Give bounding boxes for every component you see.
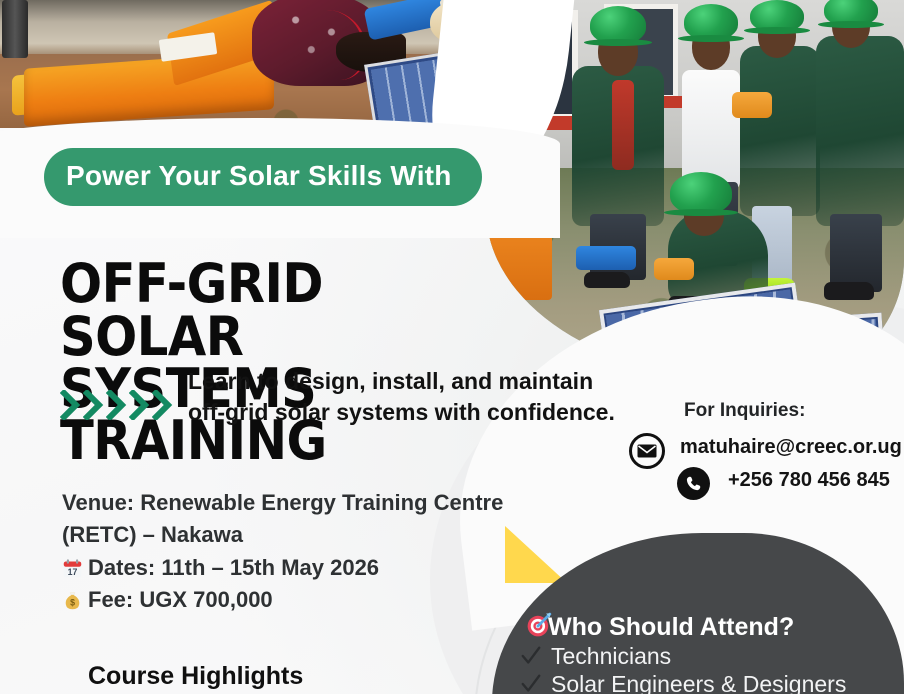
- phone-handset-glyph: [685, 475, 702, 492]
- chevron-right-icon: [152, 390, 174, 420]
- page-title: OFF-GRID SOLAR SYSTEMS TRAINING: [60, 258, 499, 468]
- photo-drainpipe: [2, 0, 28, 58]
- photo-trainee-2-hardhat: [684, 4, 738, 40]
- event-details: Venue: Renewable Energy Training Centre …: [62, 487, 582, 616]
- list-item: Solar Engineers & Designers: [520, 670, 846, 694]
- photo-trainee-1-hardhat: [590, 6, 646, 44]
- check-icon: [520, 673, 542, 694]
- dates-text: Dates: 11th – 15th May 2026: [88, 555, 379, 580]
- chevron-right-icon: [129, 390, 151, 420]
- attendee-label: Solar Engineers & Designers: [551, 670, 846, 694]
- subtitle-text: Learn to design, install, and maintain o…: [188, 366, 630, 427]
- contact-email[interactable]: matuhaire@creec.or.ug: [680, 436, 902, 459]
- chevron-right-icon: [83, 390, 105, 420]
- money-bag-emoji: $: [62, 590, 83, 611]
- envelope-glyph: [637, 444, 657, 458]
- photo-crouching-trainee-hardhat: [670, 172, 732, 214]
- attendee-list: Technicians Solar Engineers & Designers: [520, 642, 846, 694]
- photo-trainee-4-hardhat: [824, 0, 878, 26]
- photo-trainee-4-pants: [830, 214, 882, 292]
- subtitle-block: Learn to design, install, and maintain o…: [60, 366, 630, 427]
- svg-text:$: $: [70, 597, 75, 607]
- chevron-right-icon: [60, 390, 82, 420]
- chevron-group: [60, 390, 174, 420]
- attendee-label: Technicians: [551, 642, 671, 670]
- svg-text:17: 17: [68, 567, 78, 577]
- photo-trainee-3-glove: [732, 92, 772, 118]
- mail-icon[interactable]: [629, 433, 665, 469]
- tagline-badge: Power Your Solar Skills With: [44, 148, 482, 206]
- contact-phone[interactable]: +256 780 456 845: [728, 469, 890, 492]
- photo-trainee-4-body: [816, 36, 904, 226]
- venue-line-2: (RETC) – Nakawa: [62, 519, 582, 551]
- course-highlights-heading: Course Highlights: [88, 662, 303, 691]
- dates-row: 17Dates: 11th – 15th May 2026: [62, 552, 582, 584]
- headline-line-1: OFF-GRID SOLAR: [60, 258, 499, 363]
- phone-icon[interactable]: [677, 467, 710, 500]
- solar-training-poster: Power Your Solar Skills With OFF-GRID SO…: [0, 0, 904, 694]
- photo-trainee-1-shirt: [612, 80, 634, 170]
- photo-trainee-4-shoe: [824, 282, 874, 300]
- check-icon: [520, 645, 542, 667]
- inquiries-label: For Inquiries:: [684, 400, 805, 422]
- chevron-right-icon: [106, 390, 128, 420]
- photo-trainee-1-shoe: [584, 272, 630, 288]
- photo-blue-meter: [576, 246, 636, 270]
- fee-row: $Fee: UGX 700,000: [62, 584, 582, 616]
- list-item: Technicians: [520, 642, 846, 670]
- fee-text: Fee: UGX 700,000: [88, 587, 273, 612]
- venue-line-1: Venue: Renewable Energy Training Centre: [62, 487, 582, 519]
- photo-trainee-3-hardhat: [750, 0, 804, 32]
- who-should-attend-title: Who Should Attend?: [548, 613, 794, 642]
- calendar-emoji: 17: [62, 558, 83, 579]
- photo-crouching-trainee-glove: [654, 258, 694, 280]
- photo-trainee-3-body: [740, 46, 820, 216]
